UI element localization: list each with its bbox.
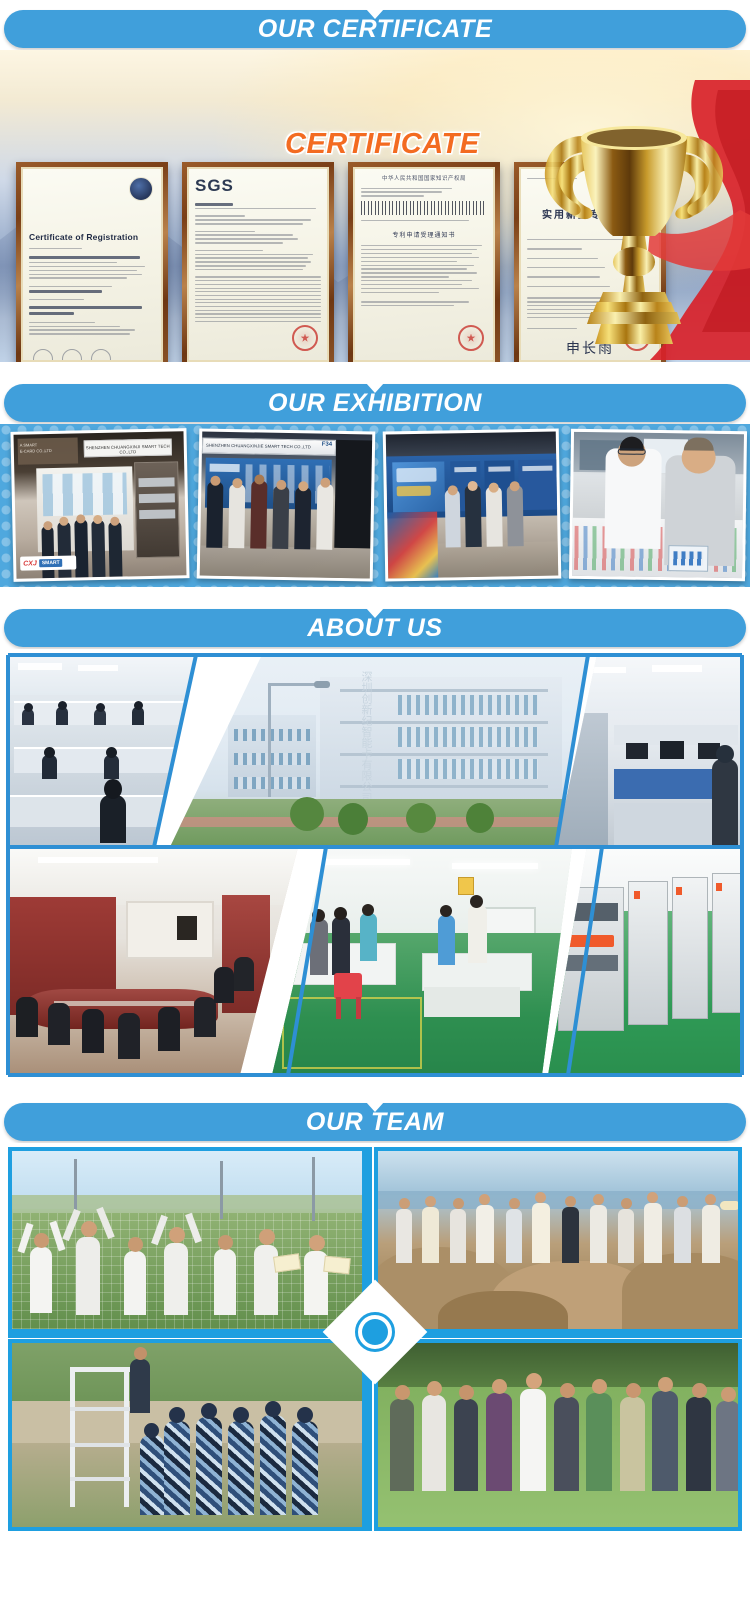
patent-notice-subtitle: 专利申请受理通知书 bbox=[361, 224, 487, 243]
certificate-banner-title: CERTIFICATE bbox=[285, 128, 480, 161]
section-header-team: OUR TEAM bbox=[0, 1093, 750, 1143]
iso-logo-icon bbox=[129, 177, 153, 201]
spacer-after-exhibition bbox=[0, 587, 750, 599]
sgs-red-seal-icon bbox=[292, 325, 318, 351]
section-title-certificate: OUR CERTIFICATE bbox=[258, 17, 492, 42]
team-photo-military-training[interactable] bbox=[8, 1339, 366, 1531]
exhibition-logo-cxj: CXJ bbox=[23, 560, 37, 567]
exhibition-photo-2[interactable]: SHENZHEN CHUANGXINJIE SMART TECH CO.,LTD… bbox=[197, 428, 376, 581]
certificate-frame-sgs: SGS bbox=[182, 162, 334, 362]
section-title-team: OUR TEAM bbox=[306, 1110, 444, 1135]
section-title-exhibition: OUR EXHIBITION bbox=[268, 391, 482, 416]
exhibition-photo-3[interactable] bbox=[383, 428, 562, 581]
section-header-about: ABOUT US bbox=[0, 599, 750, 649]
spacer-after-about bbox=[0, 1081, 750, 1093]
certificate-banner: CERTIFICATE Certificate of Registration bbox=[0, 50, 750, 362]
exhibition-photo-1[interactable]: A SMARTE-CARD CO.,LTD SHENZHEN CHUANGXIN… bbox=[10, 428, 189, 582]
team-photo-field-games[interactable] bbox=[374, 1339, 742, 1531]
spacer-after-certificate bbox=[0, 362, 750, 374]
exhibition-photo-1-sidetext: A SMARTE-CARD CO.,LTD bbox=[20, 442, 52, 455]
certificate-frame-patent-notice: 中华人民共和国国家知识产权局 专利申请受理通知书 bbox=[348, 162, 500, 362]
team-photo-jumping-group[interactable] bbox=[8, 1147, 366, 1333]
section-title-about: ABOUT US bbox=[307, 616, 442, 641]
pill-notch-icon bbox=[366, 608, 384, 618]
about-photo-factory-building[interactable]: 深圳创新纪智能卡有限公司 bbox=[170, 655, 588, 847]
about-photo-office-workstations[interactable] bbox=[8, 655, 196, 847]
team-center-dot-icon bbox=[362, 1319, 388, 1345]
about-collage: 深圳创新纪智能卡有限公司 bbox=[0, 649, 750, 1081]
pill-notch-icon bbox=[366, 1102, 384, 1112]
exhibition-photo-strip: A SMARTE-CARD CO.,LTD SHENZHEN CHUANGXIN… bbox=[0, 424, 750, 587]
sgs-logo-text: SGS bbox=[195, 174, 321, 200]
gold-trophy-icon bbox=[527, 96, 742, 346]
pill-notch-icon bbox=[366, 9, 384, 19]
about-photo-production-workshop[interactable] bbox=[272, 847, 572, 1075]
patent-notice-heading: 中华人民共和国国家知识产权局 bbox=[361, 174, 487, 185]
iso-cert-heading: Certificate of Registration bbox=[29, 232, 155, 242]
section-header-exhibition: OUR EXHIBITION bbox=[0, 374, 750, 424]
exhibition-logo-smart: SMART bbox=[39, 559, 63, 567]
about-photo-meeting-room[interactable] bbox=[8, 847, 298, 1075]
certificate-frame-iso: Certificate of Registration bbox=[16, 162, 168, 362]
patent-barcode-icon bbox=[361, 201, 487, 215]
exhibition-photo-2-badge: F34 bbox=[322, 442, 332, 448]
section-header-certificate: OUR CERTIFICATE bbox=[0, 0, 750, 50]
about-photo-design-office[interactable] bbox=[556, 655, 742, 847]
exhibition-photo-1-caption: SHENZHEN CHUANGXINJI SMART TECH CO.,LTD bbox=[86, 444, 170, 456]
exhibition-photo-4[interactable] bbox=[569, 429, 747, 581]
team-photo-seaside-rocks[interactable] bbox=[374, 1147, 742, 1333]
about-factory-name: 深圳创新纪智能卡有限公司 bbox=[356, 671, 372, 803]
pill-notch-icon bbox=[366, 383, 384, 393]
about-photo-printing-machine[interactable] bbox=[548, 847, 742, 1075]
patent-notice-red-seal-icon bbox=[458, 325, 484, 351]
